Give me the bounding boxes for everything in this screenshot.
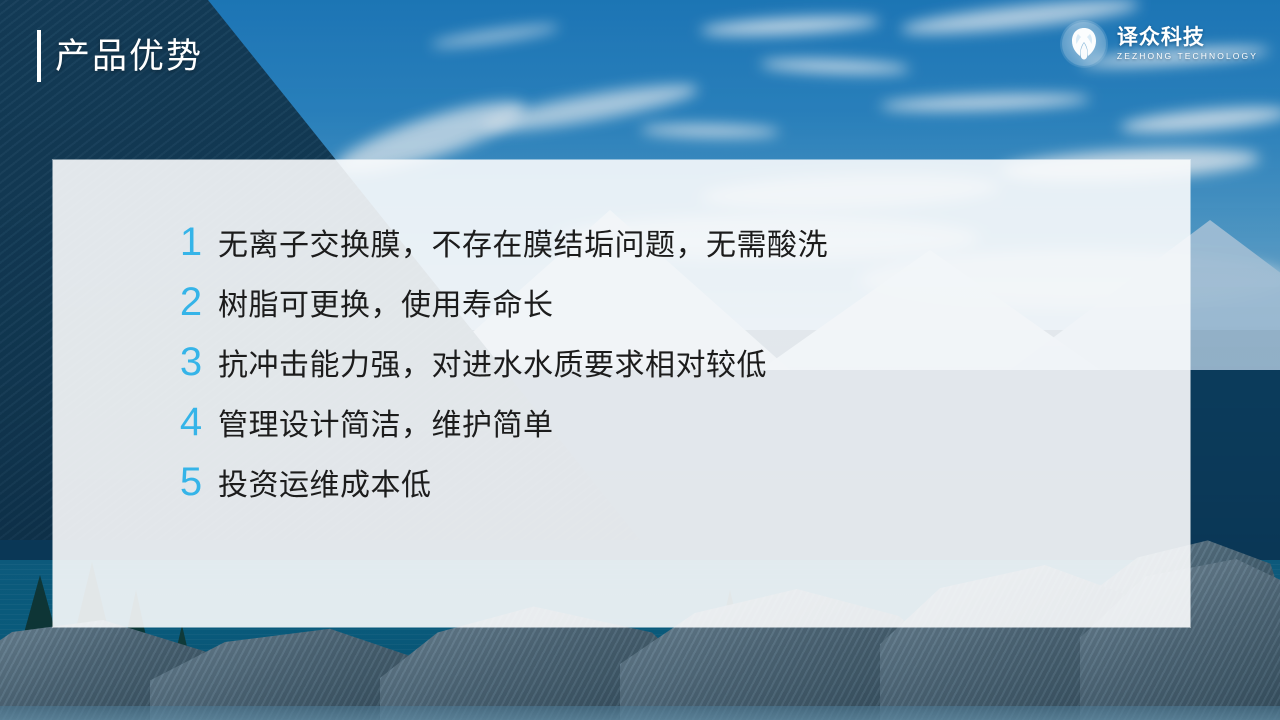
list-item-text: 投资运维成本低 (218, 471, 432, 501)
content-panel: 1无离子交换膜，不存在膜结垢问题，无需酸洗2树脂可更换，使用寿命长3抗冲击能力强… (53, 160, 1190, 627)
logo-wordmark: 译众科技 ZEZHONG TECHNOLOGY (1117, 27, 1258, 61)
zezhong-droplet-emblem-icon (1060, 20, 1108, 68)
list-item-number: 4 (178, 402, 204, 442)
slide: 产品优势 译众科技 ZEZHONG TECHNOLOGY 1无离子交换膜，不存在… (0, 0, 1280, 720)
logo-name-en: ZEZHONG TECHNOLOGY (1117, 52, 1258, 61)
list-item-text: 管理设计简洁，维护简单 (218, 411, 554, 441)
list-item-text: 无离子交换膜，不存在膜结垢问题，无需酸洗 (218, 231, 828, 261)
brand-logo[interactable]: 译众科技 ZEZHONG TECHNOLOGY (1060, 20, 1258, 68)
list-item: 2树脂可更换，使用寿命长 (178, 282, 828, 322)
page-title: 产品优势 (55, 39, 203, 74)
list-item-number: 5 (178, 462, 204, 502)
list-item-number: 1 (178, 222, 204, 262)
list-item-number: 2 (178, 282, 204, 322)
list-item-text: 抗冲击能力强，对进水水质要求相对较低 (218, 351, 767, 381)
list-item: 3抗冲击能力强，对进水水质要求相对较低 (178, 342, 828, 382)
advantage-list: 1无离子交换膜，不存在膜结垢问题，无需酸洗2树脂可更换，使用寿命长3抗冲击能力强… (178, 222, 828, 502)
list-item: 4管理设计简洁，维护简单 (178, 402, 828, 442)
logo-name-cn: 译众科技 (1117, 27, 1258, 48)
list-item: 5投资运维成本低 (178, 462, 828, 502)
list-item: 1无离子交换膜，不存在膜结垢问题，无需酸洗 (178, 222, 828, 262)
page-header: 产品优势 (37, 30, 203, 82)
title-accent-bar (37, 30, 41, 82)
list-item-text: 树脂可更换，使用寿命长 (218, 291, 554, 321)
list-item-number: 3 (178, 342, 204, 382)
